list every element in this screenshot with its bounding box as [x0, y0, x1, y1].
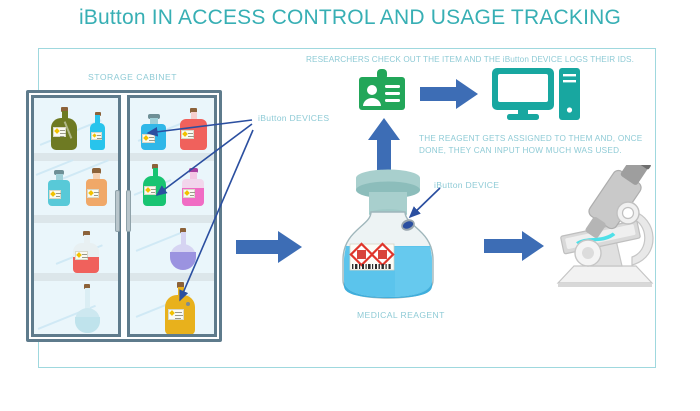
bottle-orange-jar[interactable]	[84, 168, 110, 208]
bottle-purple-flask[interactable]	[166, 228, 200, 273]
caption-researchers-note: RESEARCHERS CHECK OUT THE ITEM AND THE i…	[306, 54, 634, 65]
arrow-reagent-to-microscope	[484, 231, 544, 261]
caption-storage-cabinet: STORAGE CABINET	[88, 72, 177, 83]
caption-reagent-note-line2: DONE, THEY CAN INPUT HOW MUCH WAS USED.	[419, 145, 622, 156]
bottle-clear-flask[interactable]	[72, 284, 102, 336]
infographic-canvas: iButton IN ACCESS CONTROL AND USAGE TRAC…	[0, 0, 700, 411]
caption-medical-reagent: MEDICAL REAGENT	[357, 310, 445, 321]
shelf-divider	[130, 273, 214, 281]
computer-icon	[492, 68, 580, 120]
bottle-olive-demijohn[interactable]	[50, 107, 78, 151]
monitor-icon	[492, 68, 554, 120]
caption-ibutton-devices: iButton DEVICES	[258, 113, 329, 124]
cabinet-door-left[interactable]	[31, 95, 121, 337]
shelf-divider	[130, 153, 214, 161]
storage-cabinet-icon	[26, 90, 222, 342]
bottle-red-flask[interactable]	[178, 108, 210, 152]
page-title: iButton IN ACCESS CONTROL AND USAGE TRAC…	[0, 6, 700, 30]
arrow-reagent-to-badge	[368, 118, 400, 173]
cabinet-door-right[interactable]	[127, 95, 217, 337]
shelf-divider	[34, 215, 118, 223]
bottle-blue-flask[interactable]	[139, 114, 169, 152]
microscope-icon	[540, 165, 672, 290]
cabinet-handle-right[interactable]	[126, 190, 131, 232]
bottle-yellow-demijohn[interactable]	[163, 282, 197, 336]
id-badge-icon	[359, 69, 405, 117]
bottle-pink[interactable]	[180, 168, 206, 208]
bottle-teal-jar[interactable]	[46, 170, 72, 208]
cabinet-handle-left[interactable]	[115, 190, 120, 232]
shelf-divider	[34, 273, 118, 281]
caption-ibutton-device: iButton DEVICE	[434, 180, 499, 191]
bottle-red-demijohn[interactable]	[72, 231, 100, 273]
bottle-green[interactable]	[142, 164, 168, 208]
reagent-bottle-icon[interactable]	[333, 168, 443, 300]
shelf-divider	[130, 215, 214, 223]
arrow-cabinet-to-reagent	[236, 231, 302, 263]
ibutton-chip	[186, 302, 190, 306]
caption-reagent-note-line1: THE REAGENT GETS ASSIGNED TO THEM AND, O…	[419, 133, 643, 144]
pc-tower-icon	[559, 68, 580, 120]
arrow-badge-to-computer	[420, 79, 478, 109]
bottle-cyan[interactable]	[88, 112, 108, 152]
